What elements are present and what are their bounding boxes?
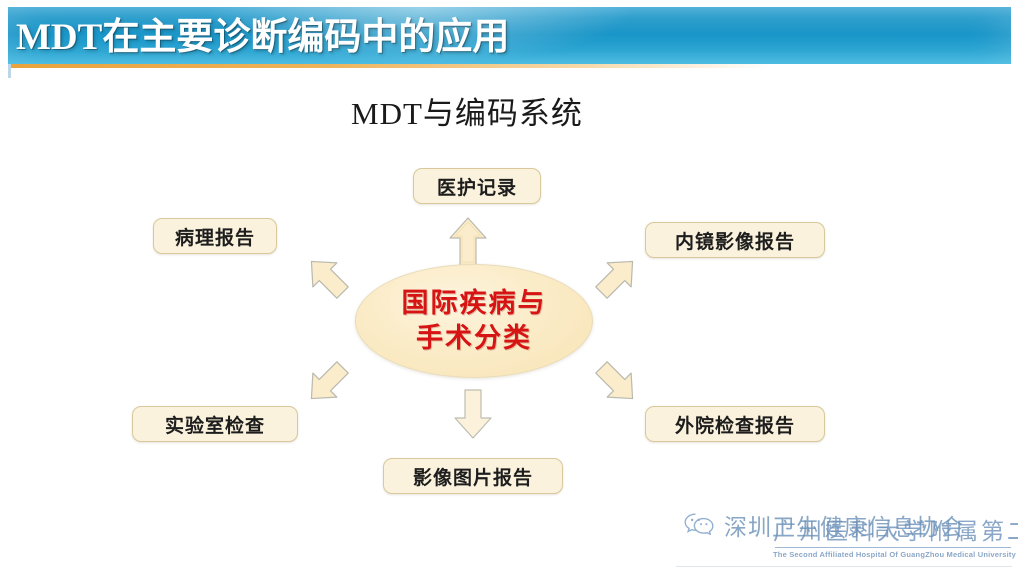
center-node-line-2: 手术分类 (416, 321, 532, 356)
slide-canvas: MDT在主要诊断编码中的应用 MDT与编码系统 (0, 0, 1018, 583)
diagram-node-pathology-report[interactable]: 病理报告 (153, 218, 277, 254)
title-left-accent (8, 64, 11, 78)
arrow-down-left-icon (302, 358, 352, 408)
watermark-bottom-divider (676, 566, 1012, 567)
wechat-watermark: 深圳卫生健康信息协会 (683, 508, 964, 542)
diagram-node-endoscopy-imaging-report[interactable]: 内镜影像报告 (645, 222, 825, 258)
diagram-node-laboratory-test[interactable]: 实验室检查 (132, 406, 298, 442)
diagram-node-medical-records[interactable]: 医护记录 (413, 168, 541, 204)
diagram-subtitle-text: MDT与编码系统 (351, 88, 583, 133)
arrow-up-right-icon (592, 252, 642, 302)
arrow-down-right-icon (592, 358, 642, 408)
hospital-watermark-en: The Second Affiliated Hospital Of GuangZ… (773, 550, 1013, 559)
diagram-subtitle: MDT与编码系统 (0, 88, 1018, 133)
wechat-watermark-text: 深圳卫生健康信息协会 (724, 508, 964, 542)
arrow-up-icon (447, 216, 489, 268)
arrow-up-left-icon (302, 252, 352, 302)
diagram-center-node[interactable]: 国际疾病与 手术分类 (355, 264, 593, 378)
page-title: MDT在主要诊断编码中的应用 (16, 6, 509, 60)
center-node-line-1: 国际疾病与 (402, 286, 547, 321)
diagram-node-external-hospital-report[interactable]: 外院检查报告 (645, 406, 825, 442)
title-underline-accent (10, 64, 770, 68)
wechat-logo-icon (683, 511, 715, 540)
hospital-watermark-divider (775, 547, 1011, 548)
diagram-node-imaging-picture-report[interactable]: 影像图片报告 (383, 458, 563, 494)
arrow-down-icon (452, 388, 494, 440)
